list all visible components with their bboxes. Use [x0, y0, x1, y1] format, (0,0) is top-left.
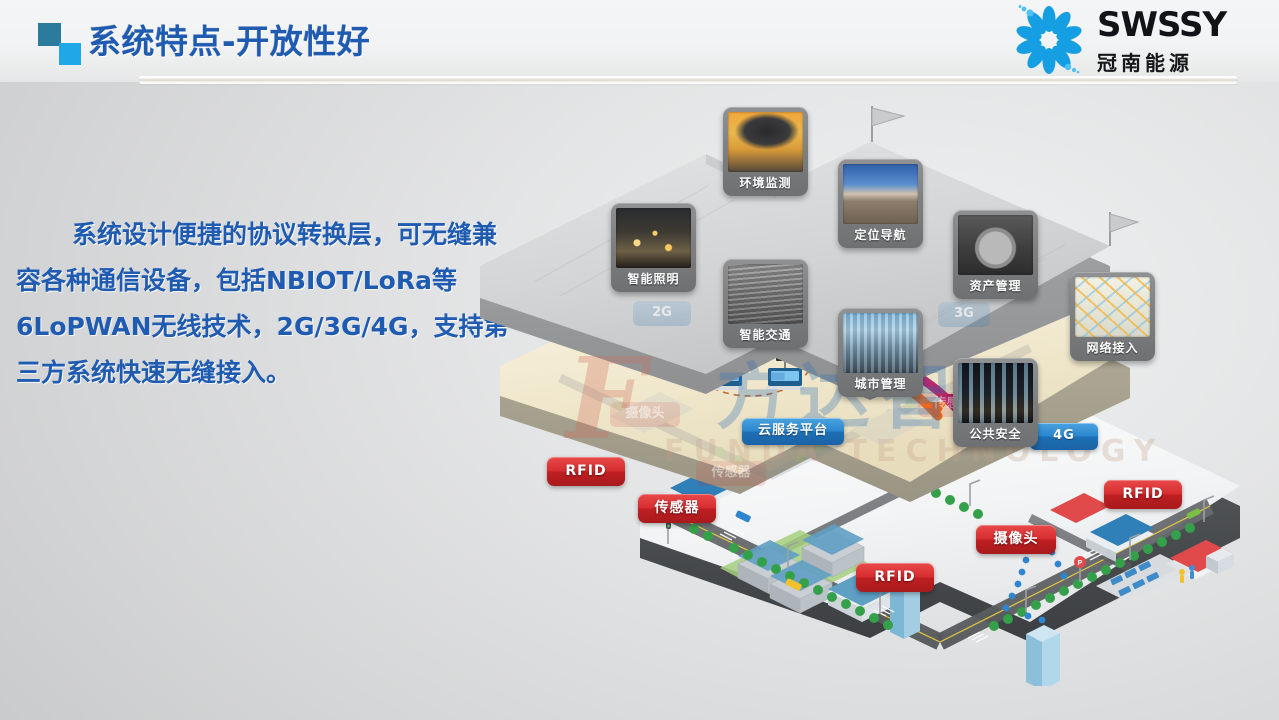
logo-subtitle: 冠南能源	[1097, 47, 1226, 76]
body-paragraph-block: 系统设计便捷的协议转换层，可无缝兼容各种通信设备，包括NBIOT/LoRa等6L…	[16, 212, 516, 396]
body-paragraph: 系统设计便捷的协议转换层，可无缝兼容各种通信设备，包括NBIOT/LoRa等6L…	[16, 212, 516, 396]
label-4g[interactable]: 4G	[1030, 423, 1098, 450]
app-card-public-safety[interactable]: 公共安全	[953, 358, 1038, 447]
header-decor-squares	[38, 23, 86, 65]
label-sensor-left[interactable]: 传感器	[638, 494, 716, 523]
app-card-label: 环境监测	[728, 172, 803, 196]
app-card-label: 智能交通	[728, 324, 803, 348]
brand-logo: SWSSY 冠南能源	[1001, 2, 1271, 78]
ghost-label-sensor-a: 传感器	[696, 461, 766, 486]
label-rfid-right[interactable]: RFID	[1104, 480, 1182, 509]
ghost-label-3g: 3G	[938, 302, 990, 327]
logo-text-block: SWSSY 冠南能源	[1097, 8, 1226, 76]
app-card-smart-traffic[interactable]: 智能交通	[723, 259, 808, 348]
map-on-tablet-photo	[1075, 277, 1150, 337]
water-droplet-flower-icon	[1009, 4, 1089, 76]
app-card-label: 智能照明	[616, 268, 691, 292]
square-light-icon	[59, 43, 81, 65]
square-dark-icon	[38, 23, 61, 46]
label-rfid-center[interactable]: RFID	[856, 563, 934, 592]
control-room-photo	[958, 363, 1033, 423]
logo-wordmark: SWSSY	[1097, 8, 1226, 42]
app-card-label: 定位导航	[843, 224, 918, 248]
svg-text:P: P	[1078, 560, 1083, 567]
app-card-network-access[interactable]: 网络接入	[1070, 272, 1155, 361]
smokestack-pollution-photo	[728, 112, 803, 172]
app-card-environmental-monitoring[interactable]: 环境监测	[723, 107, 808, 196]
app-card-positioning-navigation[interactable]: 定位导航	[838, 159, 923, 248]
city-skyline-photo	[843, 313, 918, 373]
label-rfid-top-left[interactable]: RFID	[547, 457, 625, 486]
traffic-jam-highway-photo	[728, 264, 803, 324]
label-camera[interactable]: 摄像头	[976, 525, 1056, 554]
page-title: 系统特点-开放性好	[88, 15, 370, 63]
app-card-label: 城市管理	[843, 373, 918, 397]
app-card-label: 资产管理	[958, 275, 1033, 299]
ghost-label-camera: 摄像头	[610, 402, 680, 427]
ghost-label-2g: 2G	[633, 301, 691, 326]
app-card-asset-management[interactable]: 资产管理	[953, 210, 1038, 299]
manhole-cover-photo	[958, 215, 1033, 275]
app-card-city-management[interactable]: 城市管理	[838, 308, 923, 397]
app-card-label: 公共安全	[958, 423, 1033, 447]
slide-header: 系统特点-开放性好	[0, 0, 1279, 82]
iot-architecture-illustration: P	[470, 86, 1279, 686]
app-card-label: 网络接入	[1075, 337, 1150, 361]
label-cloud-platform[interactable]: 云服务平台	[742, 418, 844, 445]
truck-on-highway-photo	[843, 164, 918, 224]
night-city-lighting-photo	[616, 208, 691, 268]
app-card-smart-lighting[interactable]: 智能照明	[611, 203, 696, 292]
